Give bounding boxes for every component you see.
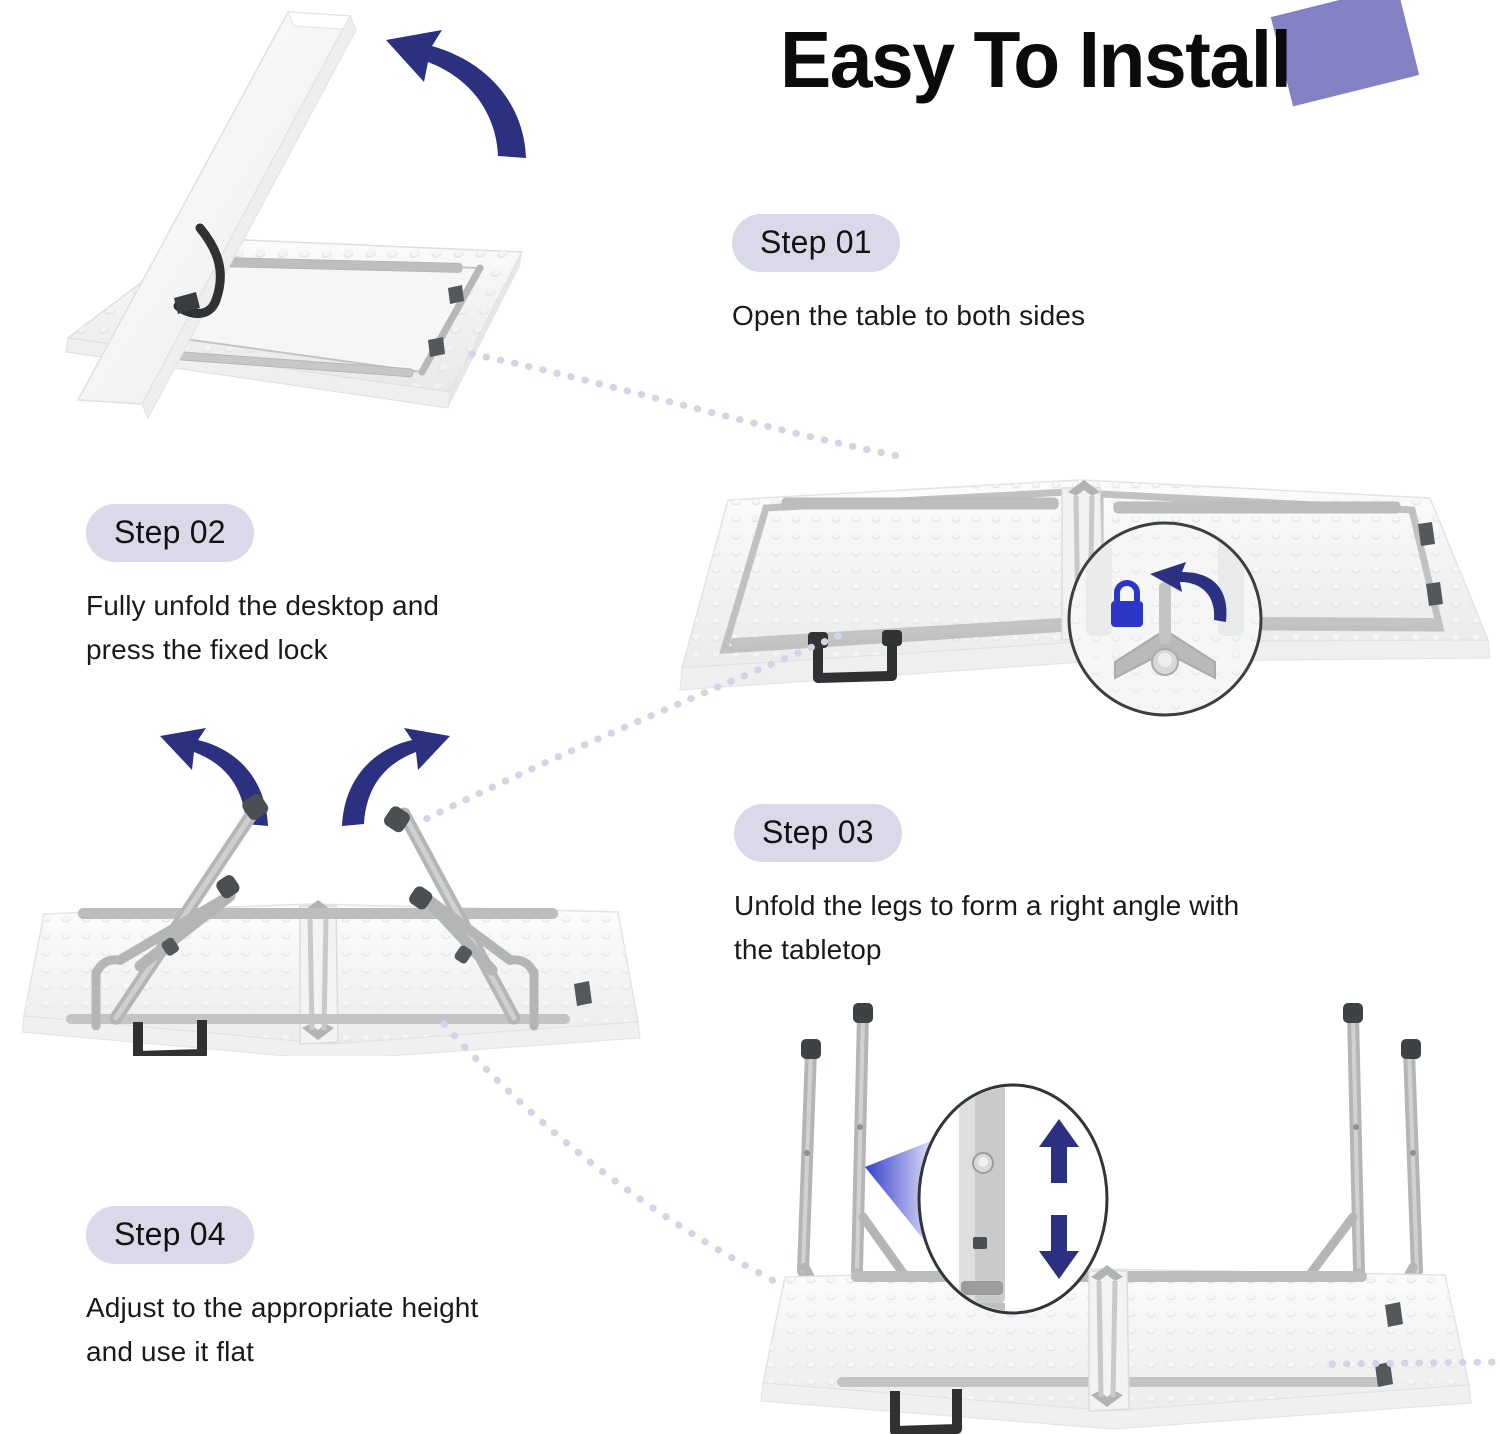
step-badge-3: Step 03 xyxy=(734,804,902,862)
step-description-3: Unfold the legs to form a right angle wi… xyxy=(734,884,1414,972)
connector-step4-trailing xyxy=(1330,1340,1500,1380)
step-description-1-line-1: Open the table to both sides xyxy=(732,294,1292,338)
table-leg-outer-right xyxy=(1401,1039,1421,1271)
page-title-text: Easy To Install xyxy=(780,8,1290,112)
hinge-clip-4a xyxy=(1385,1302,1403,1327)
step-description-4: Adjust to the appropriate height and use… xyxy=(86,1286,646,1374)
connector-step1-to-step2 xyxy=(470,330,900,460)
page-title: Easy To Install xyxy=(780,8,1440,118)
step-description-3-line-1: Unfold the legs to form a right angle wi… xyxy=(734,884,1414,928)
handle-mount-right xyxy=(882,630,902,646)
hinge-clip-3 xyxy=(574,981,592,1006)
title-accent-shape xyxy=(1271,0,1419,106)
step-description-4-line-1: Adjust to the appropriate height xyxy=(86,1286,646,1330)
table-leg-outer-left xyxy=(801,1039,821,1271)
step-badge-4: Step 04 xyxy=(86,1206,254,1264)
step-description-2-line-1: Fully unfold the desktop and xyxy=(86,584,586,628)
step-description-1: Open the table to both sides xyxy=(732,294,1292,338)
step-badge-2: Step 02 xyxy=(86,504,254,562)
step-description-3-line-2: the tabletop xyxy=(734,928,1414,972)
step-badge-1: Step 01 xyxy=(732,214,900,272)
infographic-page: Easy To Install xyxy=(0,0,1500,1434)
lock-detail-callout xyxy=(1069,523,1261,715)
illustration-step-3 xyxy=(0,726,680,1056)
step-block-3: Step 03 Unfold the legs to form a right … xyxy=(734,804,1414,972)
curved-arrow-up-left xyxy=(386,30,526,158)
center-hinge-spine-4 xyxy=(1089,1265,1129,1411)
step-description-4-line-2: and use it flat xyxy=(86,1330,646,1374)
step-block-4: Step 04 Adjust to the appropriate height… xyxy=(86,1206,646,1374)
top-frame-rail-3 xyxy=(78,908,558,919)
step-block-1: Step 01 Open the table to both sides xyxy=(732,214,1292,338)
